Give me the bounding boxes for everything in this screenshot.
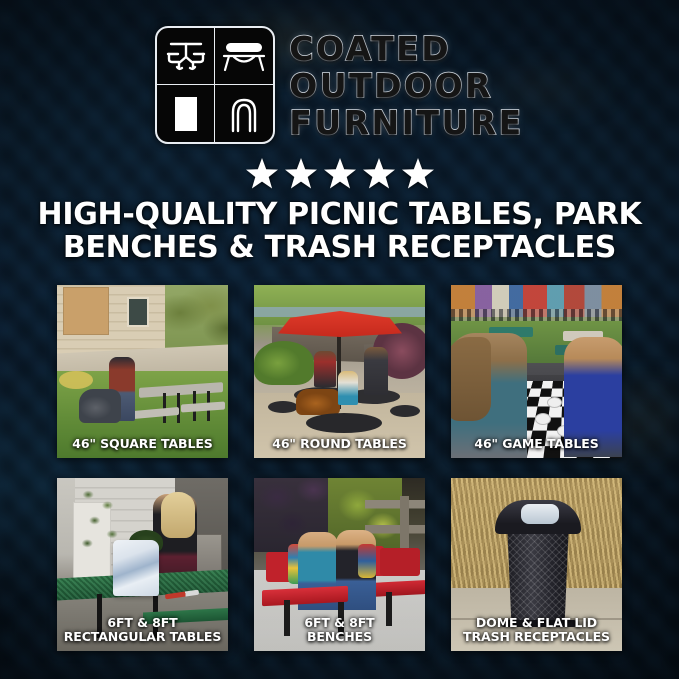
poster-root: COATED OUTDOOR FURNITURE HIGH-QUALITY PI… <box>0 0 679 679</box>
product-tile-rectangular-tables[interactable]: 6FT & 8FT RECTANGULAR TABLES <box>57 478 228 651</box>
caption-line-1: 6FT & 8FT <box>304 615 374 630</box>
product-caption: 46" GAME TABLES <box>451 437 622 451</box>
caption-line-1: 46" GAME TABLES <box>474 436 598 451</box>
product-caption: DOME & FLAT LID TRASH RECEPTACLES <box>451 616 622 644</box>
caption-line-1: DOME & FLAT LID <box>476 615 597 630</box>
product-tile-trash-receptacles[interactable]: DOME & FLAT LID TRASH RECEPTACLES <box>451 478 622 651</box>
brand-logo-mark <box>155 26 275 144</box>
star-icon <box>285 158 317 189</box>
product-photo-round-tables <box>254 285 425 458</box>
product-caption: 46" SQUARE TABLES <box>57 437 228 451</box>
poster-content: COATED OUTDOOR FURNITURE HIGH-QUALITY PI… <box>0 0 679 679</box>
caption-line-1: 46" ROUND TABLES <box>272 436 407 451</box>
product-tile-square-tables[interactable]: 46" SQUARE TABLES <box>57 285 228 458</box>
headline: HIGH-QUALITY PICNIC TABLES, PARK BENCHES… <box>0 198 679 264</box>
product-photo-square-tables <box>57 285 228 458</box>
wordmark-line-3: FURNITURE <box>289 104 523 141</box>
caption-line-2: RECTANGULAR TABLES <box>60 630 225 644</box>
star-icon <box>324 158 356 189</box>
caption-line-2: TRASH RECEPTACLES <box>454 630 619 644</box>
picnic-table-icon <box>157 28 215 85</box>
product-tile-benches[interactable]: 6FT & 8FT BENCHES <box>254 478 425 651</box>
trash-receptacle-icon <box>157 85 215 142</box>
product-photo-game-tables <box>451 285 622 458</box>
product-caption: 6FT & 8FT RECTANGULAR TABLES <box>57 616 228 644</box>
star-icon <box>402 158 434 189</box>
wordmark-line-2: OUTDOOR <box>289 67 523 104</box>
caption-line-1: 46" SQUARE TABLES <box>72 436 212 451</box>
product-tile-game-tables[interactable]: 46" GAME TABLES <box>451 285 622 458</box>
product-caption: 6FT & 8FT BENCHES <box>254 616 425 644</box>
wordmark-line-1: COATED <box>289 30 523 67</box>
product-grid: 46" SQUARE TABLES <box>57 285 623 651</box>
bench-icon <box>215 28 273 85</box>
headline-line-1: HIGH-QUALITY PICNIC TABLES, PARK <box>38 197 642 232</box>
caption-line-1: 6FT & 8FT <box>107 615 177 630</box>
bike-rack-icon <box>215 85 273 142</box>
star-icon <box>246 158 278 189</box>
headline-line-2: BENCHES & TRASH RECEPTACLES <box>18 231 661 264</box>
star-rating <box>0 158 679 189</box>
star-icon <box>363 158 395 189</box>
product-tile-round-tables[interactable]: 46" ROUND TABLES <box>254 285 425 458</box>
brand-wordmark: COATED OUTDOOR FURNITURE <box>289 30 523 141</box>
product-caption: 46" ROUND TABLES <box>254 437 425 451</box>
brand-header: COATED OUTDOOR FURNITURE <box>0 26 679 144</box>
caption-line-2: BENCHES <box>257 630 422 644</box>
